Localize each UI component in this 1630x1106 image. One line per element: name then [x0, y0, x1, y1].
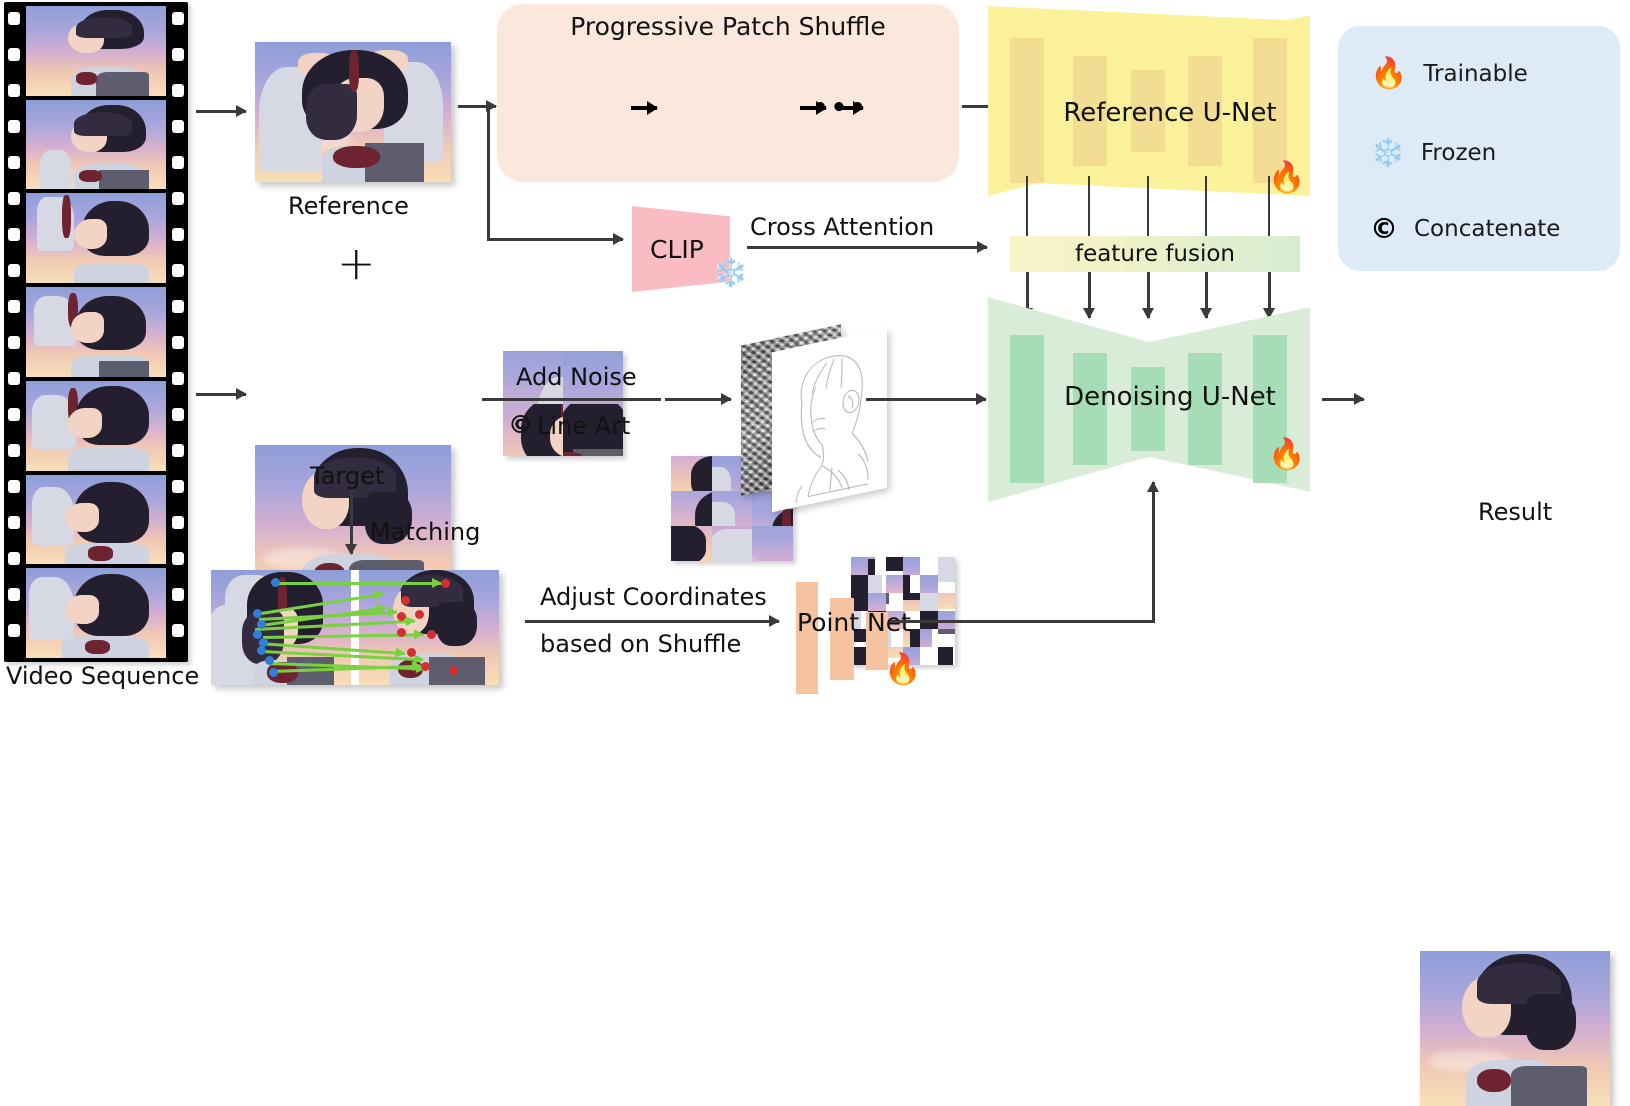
- diagram-canvas: Video Sequence Reference + Target P: [0, 0, 1630, 724]
- match-target-point: [415, 610, 424, 619]
- matching-label: Matching: [370, 518, 480, 546]
- match-source-point: [253, 609, 262, 618]
- adjust-coordinates-label: Adjust Coordinates: [540, 583, 767, 611]
- copyright-circle-icon: ©: [1370, 212, 1398, 245]
- reference-image: [255, 42, 451, 182]
- match-source-point: [269, 668, 278, 677]
- arrow-pointnet-to-denoising: [1152, 482, 1155, 622]
- shuffle-arrow-1: [631, 106, 657, 110]
- match-target-point: [397, 612, 406, 621]
- concat-divider: [482, 398, 661, 401]
- fire-icon: 🔥: [1268, 163, 1305, 193]
- based-on-shuffle-label: based on Shuffle: [540, 630, 741, 658]
- match-target-point: [407, 648, 416, 657]
- legend-item-trainable: 🔥 Trainable: [1370, 56, 1528, 91]
- point-net-bar: [796, 582, 818, 694]
- match-target-point: [397, 628, 406, 637]
- snowflake-icon: ❄️: [713, 259, 748, 287]
- fire-icon: 🔥: [884, 655, 921, 685]
- result-label: Result: [1478, 498, 1552, 526]
- filmstrip-frames: [26, 6, 166, 658]
- feature-fusion-bar: feature fusion: [1010, 236, 1300, 272]
- video-frame: [26, 568, 166, 658]
- line-art-label: Line Art: [537, 412, 630, 440]
- match-target-point: [449, 666, 458, 675]
- arrow-denoising-to-result: [1322, 398, 1364, 401]
- line-art-layer: [772, 328, 887, 512]
- reference-label: Reference: [288, 192, 409, 220]
- film-sprockets-right: [171, 2, 185, 662]
- match-source-point: [257, 620, 266, 629]
- progressive-patch-shuffle-panel: Progressive Patch Shuffle: [497, 4, 959, 182]
- skip-tick: [1205, 176, 1207, 236]
- arrow-filmstrip-to-target: [196, 393, 246, 396]
- video-frame: [26, 100, 166, 190]
- match-target-point: [421, 662, 430, 671]
- add-noise-label: Add Noise: [516, 363, 637, 391]
- skip-tick: [1268, 176, 1270, 236]
- cross-attention-label: Cross Attention: [750, 213, 934, 241]
- feature-fusion-label: feature fusion: [1010, 241, 1300, 267]
- video-frame: [26, 193, 166, 283]
- film-sprockets-left: [7, 2, 21, 662]
- match-target-point: [427, 630, 436, 639]
- pointnet-output-line: [890, 620, 1155, 623]
- elbow-down-to-clip: [487, 105, 490, 240]
- match-link: [273, 582, 441, 585]
- clip-label: CLIP: [650, 235, 704, 264]
- target-label: Target: [310, 462, 384, 490]
- match-source-point: [265, 656, 274, 665]
- skip-tick: [1147, 176, 1149, 236]
- skip-tick: [1026, 176, 1028, 236]
- legend-label-frozen: Frozen: [1421, 140, 1496, 166]
- match-source-point: [257, 646, 266, 655]
- video-frame: [26, 381, 166, 471]
- fire-icon: 🔥: [1268, 440, 1305, 470]
- video-frame: [26, 287, 166, 377]
- legend-item-concatenate: © Concatenate: [1370, 212, 1560, 245]
- arrow-target-to-noise: [665, 398, 731, 401]
- arrow-reference-to-shuffle: [458, 105, 496, 108]
- video-frame: [26, 6, 166, 96]
- video-frame: [26, 475, 166, 565]
- arrow-matching-to-pointnet: [525, 620, 779, 623]
- line-art-icon: ©: [508, 410, 533, 439]
- match-target-point: [401, 596, 410, 605]
- match-target-point: [441, 579, 450, 588]
- arrow-target-to-matching: [350, 490, 353, 554]
- line-art-drawing: [772, 328, 887, 512]
- skip-tick: [1088, 176, 1090, 236]
- result-image: [1420, 951, 1610, 1106]
- arrow-filmstrip-to-reference: [196, 110, 246, 113]
- legend-item-frozen: ❄️ Frozen: [1370, 136, 1496, 169]
- legend-label-concatenate: Concatenate: [1414, 216, 1560, 242]
- reference-unet-block: Reference U-Net: [988, 6, 1310, 196]
- fire-icon: 🔥: [1370, 56, 1407, 91]
- legend-box: 🔥 Trainable ❄️ Frozen © Concatenate: [1338, 26, 1620, 271]
- arrow-elbow-to-clip: [487, 238, 623, 241]
- legend-label-trainable: Trainable: [1423, 61, 1527, 87]
- arrow-noise-to-denoising-unet: [866, 398, 986, 401]
- video-sequence-filmstrip: [4, 2, 188, 662]
- shuffle-panel-title: Progressive Patch Shuffle: [497, 12, 959, 41]
- video-sequence-label: Video Sequence: [6, 662, 199, 690]
- match-source-point: [271, 578, 280, 587]
- snowflake-icon: ❄️: [1370, 136, 1405, 169]
- arrow-clip-to-reference-unet: [747, 246, 987, 249]
- shuffle-arrow-3: [837, 106, 863, 110]
- denoising-unet-label: Denoising U-Net: [1030, 382, 1310, 412]
- plus-symbol: +: [337, 240, 376, 286]
- reference-unet-label: Reference U-Net: [1030, 98, 1310, 128]
- denoising-unet-block: Denoising U-Net: [988, 297, 1310, 502]
- matching-panel: [211, 570, 499, 685]
